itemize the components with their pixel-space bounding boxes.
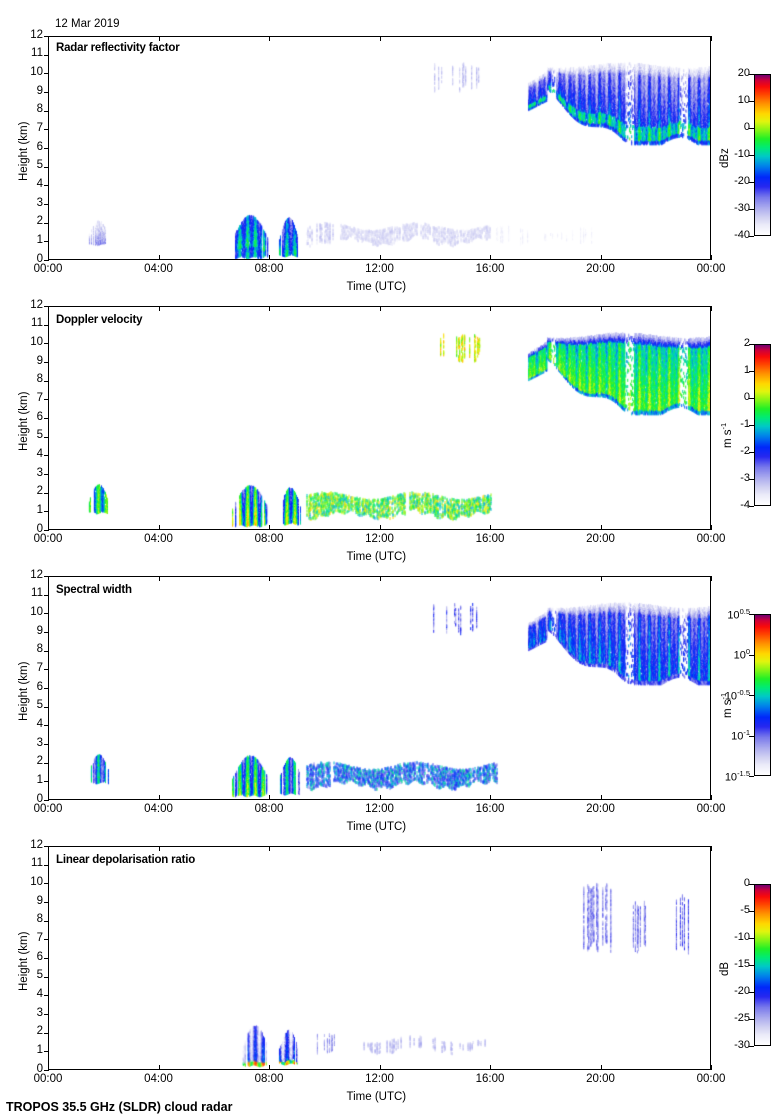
colorbar-tick-mark (749, 884, 754, 885)
x-tick-mark (601, 255, 602, 260)
y-tick-label: 11 (17, 857, 43, 869)
y-tick-mark (44, 995, 49, 996)
x-tick-mark (159, 795, 160, 800)
x-tick-label: 20:00 (577, 263, 625, 275)
x-tick-label: 08:00 (245, 1073, 293, 1085)
colorbar-tick-label: 10-1 (712, 728, 750, 743)
colorbar-tick-label: 100 (712, 647, 750, 662)
y-tick-mark (44, 1051, 49, 1052)
colorbar-tick-label: 1 (712, 364, 750, 376)
x-tick-label: 00:00 (24, 1073, 72, 1085)
y-tick-label: 1 (17, 234, 43, 246)
y-tick-mark (44, 669, 49, 670)
colorbar-tick-mark (749, 506, 754, 507)
x-tick-label: 00:00 (24, 263, 72, 275)
x-tick-mark-top (380, 576, 381, 581)
y-tick-label: 8 (17, 643, 43, 655)
panel-title-reflectivity: Radar reflectivity factor (56, 42, 179, 54)
cb-label-base: m s (722, 699, 734, 718)
x-tick-mark-top (269, 576, 270, 581)
y-tick-mark (44, 1033, 49, 1034)
x-tick-mark (269, 1065, 270, 1070)
x-tick-mark-top (490, 846, 491, 851)
y-tick-mark (44, 1070, 49, 1071)
colorbar-tick-label: 2 (712, 337, 750, 349)
colorbar-tick-mark (749, 74, 754, 75)
y-tick-mark (44, 399, 49, 400)
panel-title-doppler: Doppler velocity (56, 314, 142, 326)
colorbar-tick-label: -3 (712, 472, 750, 484)
colorbar-tick-mark (749, 371, 754, 372)
x-tick-mark-top (601, 576, 602, 581)
y-tick-label: 12 (17, 839, 43, 851)
x-tick-mark-top (269, 846, 270, 851)
colorbar-tick-mark (749, 452, 754, 453)
x-tick-label: 12:00 (356, 263, 404, 275)
colorbar-tick-label: -40 (712, 229, 750, 241)
y-tick-mark (44, 511, 49, 512)
colorbar-tick-mark (749, 736, 754, 737)
y-axis-label: Height (km) (18, 932, 30, 991)
y-tick-mark (44, 632, 49, 633)
colorbar-tick-mark (749, 695, 754, 696)
y-tick-mark (44, 530, 49, 531)
x-tick-label: 00:00 (687, 263, 735, 275)
y-tick-label: 3 (17, 467, 43, 479)
colorbar-tick-label: 10-1.5 (712, 769, 750, 784)
x-tick-mark (490, 795, 491, 800)
x-tick-mark (380, 1065, 381, 1070)
x-tick-mark (159, 525, 160, 530)
y-tick-mark (44, 902, 49, 903)
y-tick-label: 2 (17, 485, 43, 497)
y-tick-label: 11 (17, 47, 43, 59)
colorbar-tick-label: -4 (712, 499, 750, 511)
y-tick-label: 8 (17, 913, 43, 925)
colorbar-tick-mark (749, 938, 754, 939)
y-tick-label: 10 (17, 876, 43, 888)
colorbar-tick-mark (749, 128, 754, 129)
y-tick-mark (44, 325, 49, 326)
x-tick-mark-top (159, 576, 160, 581)
colorbar-tick-mark (749, 655, 754, 656)
x-tick-mark-top (48, 306, 49, 311)
y-tick-label: 9 (17, 895, 43, 907)
x-tick-mark (159, 255, 160, 260)
y-tick-mark (44, 204, 49, 205)
y-tick-mark (44, 725, 49, 726)
colorbar-tick-label: 0 (712, 391, 750, 403)
colorbar-tick-label: 0 (712, 121, 750, 133)
y-tick-label: 10 (17, 66, 43, 78)
x-tick-mark-top (711, 306, 712, 311)
y-tick-label: 3 (17, 197, 43, 209)
y-tick-mark (44, 223, 49, 224)
colorbar-doppler (754, 344, 771, 506)
x-tick-label: 12:00 (356, 533, 404, 545)
colorbar-reflectivity (754, 74, 771, 236)
x-tick-label: 12:00 (356, 803, 404, 815)
y-axis-label: Height (km) (18, 662, 30, 721)
y-tick-mark (44, 493, 49, 494)
y-tick-mark (44, 437, 49, 438)
y-tick-mark (44, 455, 49, 456)
y-tick-mark (44, 651, 49, 652)
plot-area-ldr[interactable] (48, 846, 711, 1070)
y-tick-mark (44, 55, 49, 56)
x-tick-mark (269, 255, 270, 260)
x-tick-mark-top (380, 846, 381, 851)
x-tick-label: 08:00 (245, 263, 293, 275)
y-tick-label: 11 (17, 317, 43, 329)
y-tick-mark (44, 763, 49, 764)
x-tick-mark-top (601, 36, 602, 41)
y-axis-label: Height (km) (18, 392, 30, 451)
y-tick-label: 3 (17, 737, 43, 749)
x-tick-mark (490, 525, 491, 530)
x-tick-mark (269, 525, 270, 530)
y-tick-mark (44, 939, 49, 940)
y-tick-mark (44, 343, 49, 344)
x-tick-mark (490, 255, 491, 260)
colorbar-tick-mark (749, 614, 754, 615)
x-tick-label: 00:00 (687, 803, 735, 815)
panel-title-spectral-width: Spectral width (56, 584, 132, 596)
y-tick-label: 2 (17, 755, 43, 767)
colorbar-tick-label: 10 (712, 94, 750, 106)
colorbar-tick-label: 10-0.5 (712, 688, 750, 703)
colorbar-spectral-width (754, 614, 771, 776)
y-tick-label: 9 (17, 625, 43, 637)
colorbar-tick-mark (749, 1046, 754, 1047)
y-tick-label: 8 (17, 103, 43, 115)
x-tick-mark-top (159, 846, 160, 851)
plot-area-spectral-width[interactable] (48, 576, 711, 800)
x-tick-label: 16:00 (466, 533, 514, 545)
x-tick-mark (711, 1065, 712, 1070)
y-tick-mark (44, 185, 49, 186)
y-tick-label: 1 (17, 774, 43, 786)
y-tick-label: 1 (17, 1044, 43, 1056)
colorbar-tick-label: -20 (712, 985, 750, 997)
x-tick-label: 16:00 (466, 263, 514, 275)
y-tick-mark (44, 241, 49, 242)
x-tick-mark-top (269, 36, 270, 41)
x-tick-mark-top (601, 846, 602, 851)
x-tick-mark-top (159, 36, 160, 41)
colorbar-tick-mark (749, 344, 754, 345)
y-tick-mark (44, 958, 49, 959)
y-tick-mark (44, 595, 49, 596)
x-tick-mark-top (48, 576, 49, 581)
x-tick-label: 04:00 (135, 263, 183, 275)
x-tick-mark (711, 525, 712, 530)
y-tick-mark (44, 260, 49, 261)
panel-title-ldr: Linear depolarisation ratio (56, 854, 195, 866)
y-tick-mark (44, 148, 49, 149)
colorbar-tick-label: 0 (712, 877, 750, 889)
y-tick-mark (44, 1014, 49, 1015)
y-tick-mark (44, 921, 49, 922)
colorbar-tick-mark (749, 911, 754, 912)
x-tick-mark (159, 1065, 160, 1070)
colorbar-tick-label: -30 (712, 1039, 750, 1051)
colorbar-tick-label: -10 (712, 148, 750, 160)
y-tick-label: 2 (17, 1025, 43, 1037)
x-tick-mark (601, 525, 602, 530)
y-tick-mark (44, 474, 49, 475)
x-tick-label: 12:00 (356, 1073, 404, 1085)
x-tick-mark (269, 795, 270, 800)
colorbar-tick-mark (749, 479, 754, 480)
x-tick-mark-top (490, 306, 491, 311)
y-tick-label: 9 (17, 355, 43, 367)
x-tick-label: 08:00 (245, 803, 293, 815)
colorbar-ldr (754, 884, 771, 1046)
x-tick-label: 16:00 (466, 803, 514, 815)
x-tick-label: 04:00 (135, 533, 183, 545)
x-tick-label: 20:00 (577, 803, 625, 815)
x-tick-mark-top (490, 36, 491, 41)
x-tick-label: 20:00 (577, 533, 625, 545)
x-tick-mark-top (48, 846, 49, 851)
colorbar-tick-mark (749, 182, 754, 183)
y-tick-label: 9 (17, 85, 43, 97)
y-tick-mark (44, 129, 49, 130)
x-tick-label: 04:00 (135, 1073, 183, 1085)
x-tick-mark (490, 1065, 491, 1070)
figure-root: 12 Mar 2019 Radar reflectivity factor dB… (0, 0, 780, 1120)
x-tick-mark (48, 255, 49, 260)
y-tick-label: 3 (17, 1007, 43, 1019)
x-axis-label: Time (UTC) (347, 821, 407, 833)
x-tick-mark-top (711, 576, 712, 581)
colorbar-tick-mark (749, 236, 754, 237)
colorbar-tick-label: -25 (712, 1012, 750, 1024)
x-tick-label: 00:00 (24, 803, 72, 815)
x-axis-label: Time (UTC) (347, 281, 407, 293)
y-tick-mark (44, 73, 49, 74)
x-tick-label: 20:00 (577, 1073, 625, 1085)
colorbar-tick-mark (749, 155, 754, 156)
y-tick-label: 1 (17, 504, 43, 516)
y-tick-mark (44, 781, 49, 782)
x-tick-mark-top (269, 306, 270, 311)
y-tick-mark (44, 381, 49, 382)
colorbar-tick-mark (749, 209, 754, 210)
y-tick-label: 12 (17, 29, 43, 41)
x-axis-label: Time (UTC) (347, 1091, 407, 1103)
x-tick-mark-top (490, 576, 491, 581)
x-tick-mark (711, 255, 712, 260)
colorbar-tick-mark (749, 776, 754, 777)
y-tick-mark (44, 707, 49, 708)
y-tick-mark (44, 688, 49, 689)
y-tick-mark (44, 167, 49, 168)
colorbar-tick-mark (749, 398, 754, 399)
colorbar-tick-label: -2 (712, 445, 750, 457)
y-tick-label: 11 (17, 587, 43, 599)
x-tick-mark-top (159, 306, 160, 311)
x-tick-label: 00:00 (687, 1073, 735, 1085)
y-tick-mark (44, 800, 49, 801)
y-tick-mark (44, 744, 49, 745)
x-tick-mark-top (48, 36, 49, 41)
y-tick-mark (44, 362, 49, 363)
x-tick-label: 04:00 (135, 803, 183, 815)
y-tick-label: 12 (17, 299, 43, 311)
y-tick-mark (44, 977, 49, 978)
y-tick-label: 10 (17, 606, 43, 618)
y-tick-mark (44, 92, 49, 93)
x-tick-label: 16:00 (466, 1073, 514, 1085)
x-tick-mark (711, 795, 712, 800)
colorbar-tick-mark (749, 992, 754, 993)
plot-area-doppler[interactable] (48, 306, 711, 530)
y-tick-mark (44, 111, 49, 112)
x-tick-mark (601, 795, 602, 800)
x-tick-mark (601, 1065, 602, 1070)
y-tick-mark (44, 613, 49, 614)
colorbar-tick-label: -1 (712, 418, 750, 430)
colorbar-tick-label: -10 (712, 931, 750, 943)
x-tick-mark-top (380, 36, 381, 41)
colorbar-tick-label: 100.5 (712, 607, 750, 622)
y-tick-label: 10 (17, 336, 43, 348)
x-tick-mark (380, 795, 381, 800)
figure-footer: TROPOS 35.5 GHz (SLDR) cloud radar (6, 1100, 232, 1114)
colorbar-tick-mark (749, 425, 754, 426)
x-tick-label: 00:00 (24, 533, 72, 545)
x-tick-mark-top (711, 36, 712, 41)
x-tick-mark (380, 525, 381, 530)
y-tick-label: 2 (17, 215, 43, 227)
colorbar-tick-mark (749, 101, 754, 102)
x-tick-label: 00:00 (687, 533, 735, 545)
plot-area-reflectivity[interactable] (48, 36, 711, 260)
x-axis-label: Time (UTC) (347, 551, 407, 563)
x-tick-mark (48, 795, 49, 800)
colorbar-tick-label: -5 (712, 904, 750, 916)
x-tick-mark (48, 1065, 49, 1070)
colorbar-tick-label: 20 (712, 67, 750, 79)
y-tick-label: 12 (17, 569, 43, 581)
x-tick-mark-top (601, 306, 602, 311)
x-tick-mark-top (711, 846, 712, 851)
colorbar-tick-label: -30 (712, 202, 750, 214)
y-tick-label: 8 (17, 373, 43, 385)
x-tick-mark (48, 525, 49, 530)
colorbar-tick-label: -15 (712, 958, 750, 970)
x-tick-mark-top (380, 306, 381, 311)
y-tick-mark (44, 418, 49, 419)
x-tick-label: 08:00 (245, 533, 293, 545)
colorbar-tick-mark (749, 1019, 754, 1020)
y-axis-label: Height (km) (18, 122, 30, 181)
y-tick-mark (44, 883, 49, 884)
y-tick-mark (44, 865, 49, 866)
date-stamp: 12 Mar 2019 (55, 18, 120, 30)
x-tick-mark (380, 255, 381, 260)
colorbar-tick-label: -20 (712, 175, 750, 187)
colorbar-tick-mark (749, 965, 754, 966)
